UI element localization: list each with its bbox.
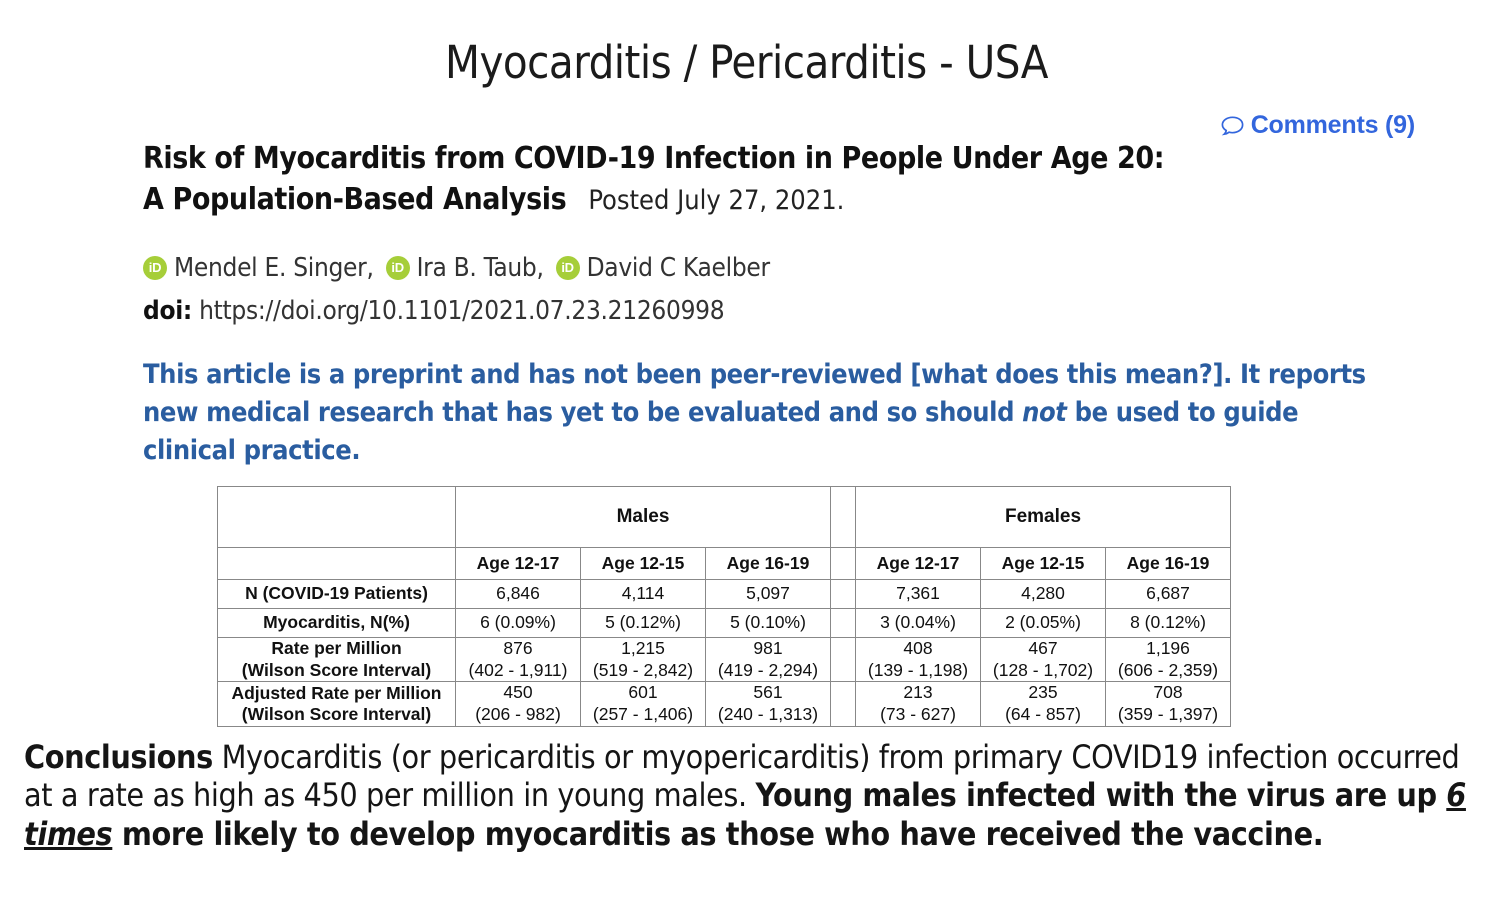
age-header-female-16-19: Age 16-19 bbox=[1106, 548, 1231, 580]
conclusions-bold-part1: Young males infected with the virus are … bbox=[755, 776, 1446, 814]
cell-rate-male-16-19: 981 (419 - 2,294) bbox=[706, 638, 831, 682]
cell-value: 601 bbox=[581, 682, 705, 704]
table-subheader-row: Age 12-17 Age 12-15 Age 16-19 Age 12-17 … bbox=[218, 548, 1231, 580]
row-label-line2: (Wilson Score Interval) bbox=[218, 660, 455, 681]
table-gap-column bbox=[831, 487, 856, 548]
cell-rate-female-12-15: 467 (128 - 1,702) bbox=[981, 638, 1106, 682]
cell-myo-female-12-15: 2 (0.05%) bbox=[981, 609, 1106, 638]
cell-n-male-12-15: 4,114 bbox=[581, 580, 706, 609]
age-header-male-12-15: Age 12-15 bbox=[581, 548, 706, 580]
cell-ci: (64 - 857) bbox=[981, 704, 1105, 726]
page-title: Myocarditis / Pericarditis - USA bbox=[0, 36, 1493, 89]
paper-title-line1: Risk of Myocarditis from COVID-19 Infect… bbox=[143, 141, 1164, 176]
group-header-females: Females bbox=[856, 487, 1231, 548]
cell-value: 235 bbox=[981, 682, 1105, 704]
authors-line: iD Mendel E. Singer, iD Ira B. Taub, iD … bbox=[143, 253, 1343, 283]
row-label-n-patients: N (COVID-19 Patients) bbox=[218, 580, 456, 609]
row-label-adjusted-rate: Adjusted Rate per Million (Wilson Score … bbox=[218, 682, 456, 726]
cell-ci: (128 - 1,702) bbox=[981, 660, 1105, 682]
cell-value: 708 bbox=[1106, 682, 1230, 704]
table-gap-column bbox=[831, 638, 856, 682]
preprint-notice: This article is a preprint and has not b… bbox=[143, 356, 1388, 471]
table-gap-column bbox=[831, 548, 856, 580]
author-name[interactable]: David C Kaelber bbox=[587, 253, 770, 283]
row-label-myocarditis: Myocarditis, N(%) bbox=[218, 609, 456, 638]
row-label-line1: Adjusted Rate per Million bbox=[218, 683, 455, 704]
cell-ci: (419 - 2,294) bbox=[706, 660, 830, 682]
cell-ci: (73 - 627) bbox=[856, 704, 980, 726]
cell-rate-female-12-17: 408 (139 - 1,198) bbox=[856, 638, 981, 682]
cell-value: 1,196 bbox=[1106, 638, 1230, 660]
author-name[interactable]: Mendel E. Singer, bbox=[174, 253, 374, 283]
doi-value[interactable]: https://doi.org/10.1101/2021.07.23.21260… bbox=[199, 296, 724, 326]
speech-bubble-icon bbox=[1221, 116, 1244, 136]
cell-value: 876 bbox=[456, 638, 580, 660]
row-label-rate-per-million: Rate per Million (Wilson Score Interval) bbox=[218, 638, 456, 682]
age-header-female-12-15: Age 12-15 bbox=[981, 548, 1106, 580]
cell-n-male-16-19: 5,097 bbox=[706, 580, 831, 609]
age-header-male-12-17: Age 12-17 bbox=[456, 548, 581, 580]
table-row: Adjusted Rate per Million (Wilson Score … bbox=[218, 682, 1231, 726]
cell-ci: (257 - 1,406) bbox=[581, 704, 705, 726]
table-gap-column bbox=[831, 682, 856, 726]
conclusions-keyword: Conclusions bbox=[24, 738, 213, 776]
cell-value: 408 bbox=[856, 638, 980, 660]
paper-title-line2: A Population-Based Analysis bbox=[143, 182, 566, 217]
cell-myo-female-12-17: 3 (0.04%) bbox=[856, 609, 981, 638]
cell-value: 450 bbox=[456, 682, 580, 704]
cell-value: 213 bbox=[856, 682, 980, 704]
table-row: N (COVID-19 Patients) 6,846 4,114 5,097 … bbox=[218, 580, 1231, 609]
cell-n-female-12-17: 7,361 bbox=[856, 580, 981, 609]
table-corner-blank bbox=[218, 487, 456, 548]
table-group-header-row: Males Females bbox=[218, 487, 1231, 548]
cell-myo-female-16-19: 8 (0.12%) bbox=[1106, 609, 1231, 638]
comments-label: Comments (9) bbox=[1251, 111, 1415, 140]
conclusions-text: Conclusions Myocarditis (or pericarditis… bbox=[24, 738, 1479, 853]
cell-ci: (359 - 1,397) bbox=[1106, 704, 1230, 726]
cell-value: 981 bbox=[706, 638, 830, 660]
results-table-container: Males Females Age 12-17 Age 12-15 Age 16… bbox=[217, 486, 1231, 727]
doi-line: doi: https://doi.org/10.1101/2021.07.23.… bbox=[143, 296, 1343, 326]
cell-rate-male-12-17: 876 (402 - 1,911) bbox=[456, 638, 581, 682]
table-gap-column bbox=[831, 580, 856, 609]
table-corner-blank bbox=[218, 548, 456, 580]
age-header-female-12-17: Age 12-17 bbox=[856, 548, 981, 580]
table-gap-column bbox=[831, 609, 856, 638]
preprint-notice-emphasis: not bbox=[1022, 397, 1066, 428]
paper-posted-date: Posted July 27, 2021. bbox=[588, 185, 844, 216]
paper-title: Risk of Myocarditis from COVID-19 Infect… bbox=[143, 138, 1343, 221]
group-header-males: Males bbox=[456, 487, 831, 548]
cell-value: 1,215 bbox=[581, 638, 705, 660]
cell-rate-male-12-15: 1,215 (519 - 2,842) bbox=[581, 638, 706, 682]
author-name[interactable]: Ira B. Taub, bbox=[417, 253, 544, 283]
table-row: Myocarditis, N(%) 6 (0.09%) 5 (0.12%) 5 … bbox=[218, 609, 1231, 638]
orcid-icon[interactable]: iD bbox=[386, 256, 410, 280]
cell-value: 467 bbox=[981, 638, 1105, 660]
cell-adjrate-female-12-15: 235 (64 - 857) bbox=[981, 682, 1106, 726]
cell-ci: (206 - 982) bbox=[456, 704, 580, 726]
cell-ci: (606 - 2,359) bbox=[1106, 660, 1230, 682]
cell-n-male-12-17: 6,846 bbox=[456, 580, 581, 609]
cell-rate-female-16-19: 1,196 (606 - 2,359) bbox=[1106, 638, 1231, 682]
cell-n-female-16-19: 6,687 bbox=[1106, 580, 1231, 609]
table-row: Rate per Million (Wilson Score Interval)… bbox=[218, 638, 1231, 682]
cell-adjrate-female-16-19: 708 (359 - 1,397) bbox=[1106, 682, 1231, 726]
cell-adjrate-male-16-19: 561 (240 - 1,313) bbox=[706, 682, 831, 726]
cell-n-female-12-15: 4,280 bbox=[981, 580, 1106, 609]
doi-label: doi: bbox=[143, 296, 192, 326]
cell-ci: (139 - 1,198) bbox=[856, 660, 980, 682]
cell-adjrate-male-12-17: 450 (206 - 982) bbox=[456, 682, 581, 726]
results-table: Males Females Age 12-17 Age 12-15 Age 16… bbox=[217, 486, 1231, 727]
orcid-icon[interactable]: iD bbox=[556, 256, 580, 280]
cell-myo-male-12-17: 6 (0.09%) bbox=[456, 609, 581, 638]
cell-myo-male-12-15: 5 (0.12%) bbox=[581, 609, 706, 638]
cell-myo-male-16-19: 5 (0.10%) bbox=[706, 609, 831, 638]
cell-ci: (519 - 2,842) bbox=[581, 660, 705, 682]
orcid-icon[interactable]: iD bbox=[143, 256, 167, 280]
row-label-line1: Rate per Million bbox=[218, 638, 455, 659]
cell-adjrate-female-12-17: 213 (73 - 627) bbox=[856, 682, 981, 726]
comments-link[interactable]: Comments (9) bbox=[1221, 111, 1415, 140]
row-label-line2: (Wilson Score Interval) bbox=[218, 704, 455, 725]
paper-block: Risk of Myocarditis from COVID-19 Infect… bbox=[143, 138, 1343, 471]
age-header-male-16-19: Age 16-19 bbox=[706, 548, 831, 580]
cell-ci: (240 - 1,313) bbox=[706, 704, 830, 726]
conclusions-bold-part2: more likely to develop myocarditis as th… bbox=[112, 815, 1323, 853]
cell-value: 561 bbox=[706, 682, 830, 704]
cell-ci: (402 - 1,911) bbox=[456, 660, 580, 682]
cell-adjrate-male-12-15: 601 (257 - 1,406) bbox=[581, 682, 706, 726]
